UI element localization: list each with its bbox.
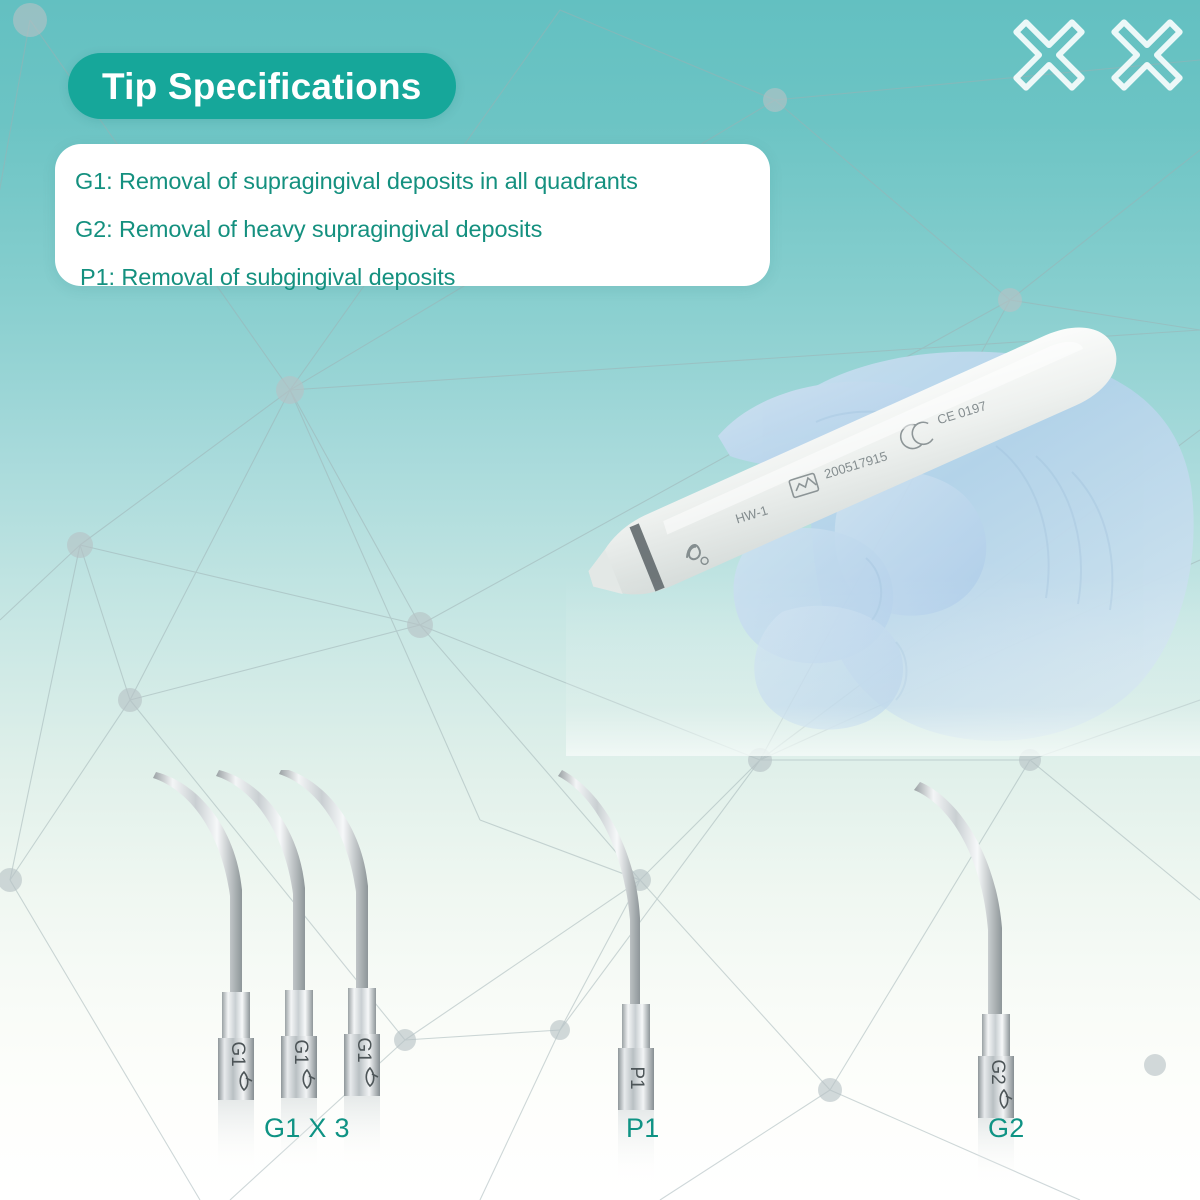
collar-engraving-p1: P1	[626, 1066, 647, 1089]
tip-caption-g2: G2	[988, 1113, 1025, 1144]
close-x-icon	[1008, 14, 1090, 96]
scaler-tip-g1-1: G1	[153, 772, 254, 1172]
svg-text:G1: G1	[353, 1037, 374, 1062]
tip-caption-g1: G1 X 3	[264, 1113, 350, 1144]
svg-text:G2: G2	[987, 1059, 1008, 1084]
tip-caption-p1: P1	[626, 1113, 660, 1144]
handpiece-photo: HW-1 200517915 CE 0197	[566, 326, 1200, 756]
spec-line-p1: P1: Removal of subgingival deposits	[55, 254, 770, 302]
spec-line-g1: G1: Removal of supragingival deposits in…	[55, 158, 770, 206]
svg-text:P1: P1	[626, 1066, 647, 1089]
product-spec-poster: Tip Specifications G1: Removal of suprag…	[0, 0, 1200, 1200]
tip-specifications-card: G1: Removal of supragingival deposits in…	[55, 144, 770, 286]
spec-line-g2: G2: Removal of heavy supragingival depos…	[55, 206, 770, 254]
page-title-badge: Tip Specifications	[68, 53, 456, 119]
decorative-x-marks	[1008, 14, 1188, 96]
close-x-icon-2	[1106, 14, 1188, 96]
page-title: Tip Specifications	[102, 68, 422, 105]
svg-text:G1: G1	[227, 1041, 248, 1066]
svg-text:G1: G1	[290, 1039, 311, 1064]
